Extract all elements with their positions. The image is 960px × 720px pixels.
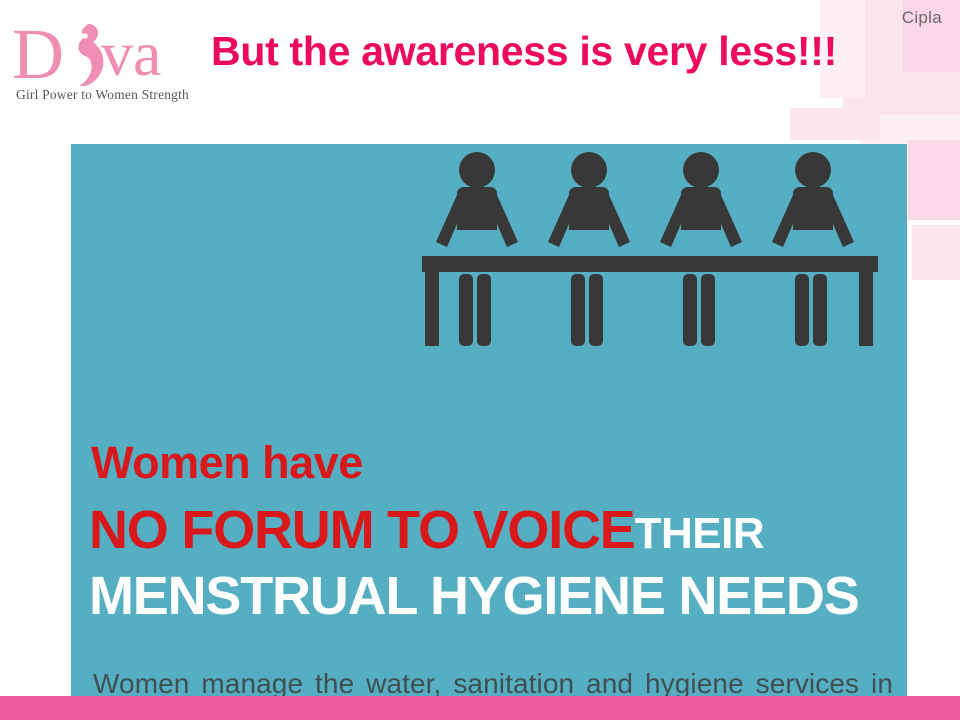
decor-block-7 <box>912 225 960 280</box>
infographic-panel: Women have NO FORUM TO VOICETHEIR MENSTR… <box>71 144 907 696</box>
diva-logo: D va Girl Power to Women Strength <box>12 22 204 108</box>
slide-title: But the awareness is very less!!! <box>200 26 848 77</box>
decor-block-6 <box>908 140 960 220</box>
headline-intro-line: Women have <box>91 440 363 485</box>
logo-letters-va: va <box>101 22 161 86</box>
logo-letter-d: D <box>12 22 63 86</box>
body-text-normal: Women manage the water, sanitation and h… <box>93 668 893 696</box>
headline-line-1: NO FORUM TO VOICETHEIR <box>89 502 764 562</box>
diva-logo-wordmark: D va <box>12 22 204 84</box>
infographic-body-text: Women manage the water, sanitation and h… <box>93 660 893 696</box>
four-people-behind-table-illustration <box>419 146 903 346</box>
headline-their-text: THEIR <box>635 509 765 558</box>
decor-block-5 <box>790 108 880 140</box>
headline-red-text: NO FORUM TO VOICE <box>89 500 635 560</box>
woman-silhouette-icon <box>59 22 105 86</box>
headline-line-2: MENSTRUAL HYGIENE NEEDS <box>89 568 859 624</box>
slide-canvas: D va Girl Power to Women Strength Cipla … <box>0 0 960 720</box>
cipla-wordmark: Cipla <box>902 8 942 28</box>
footer-accent-bar <box>0 696 960 720</box>
